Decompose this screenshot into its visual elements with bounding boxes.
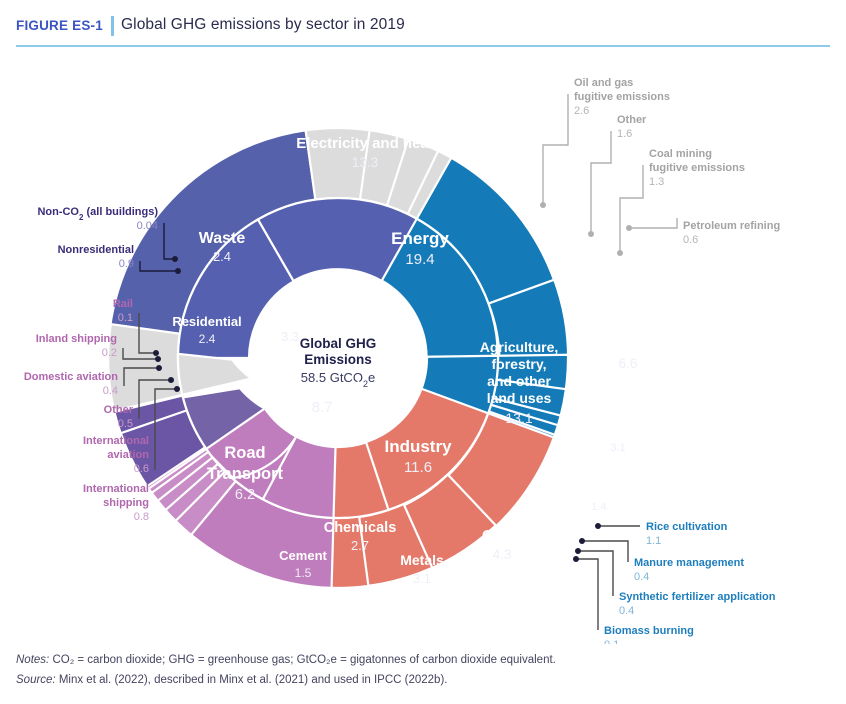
callout-petroleum-refining-line1: Petroleum refining <box>683 220 780 232</box>
callout-oil-and-gas-line2: fugitive emissions <box>574 91 670 103</box>
callout-international-aviation-line2: aviation <box>107 449 149 461</box>
callout-transport-other-line1: Other <box>104 404 134 416</box>
value-metals: 3.1 <box>413 571 431 586</box>
value-enteric: 3.1 <box>610 442 625 454</box>
callout-rail-value: 0.1 <box>118 312 133 324</box>
callout-manure-management-line1: Manure management <box>634 557 744 569</box>
leader-dot-inland-shipping <box>155 356 161 362</box>
callout-nonresidential-value: 0.9 <box>119 258 134 270</box>
leader-dot-petroleum-refining <box>626 225 632 231</box>
label-waste: Waste <box>199 230 246 247</box>
hub-line2: Emissions <box>304 352 372 367</box>
callout-international-shipping-value: 0.8 <box>134 511 149 523</box>
value-residential: 2.4 <box>199 332 216 346</box>
callouts-blue: Rice cultivation 1.1 Manure management 0… <box>573 521 776 644</box>
callout-energy-other-line1: Other <box>617 114 647 126</box>
sunburst-svg: Global GHG Emissions 58.5 GtCO2e Energy … <box>0 48 846 644</box>
label-managed-soils-2: soils and <box>574 473 624 485</box>
label-agriculture-1: Agriculture, <box>480 339 559 355</box>
leader-energy-other <box>591 131 611 232</box>
callout-non-co2-value: 0.04 <box>137 220 158 232</box>
value-buildings: 3.3 <box>281 330 298 344</box>
label-agriculture-4: land uses <box>487 390 552 406</box>
label-road-transport-2: Transport <box>207 465 284 483</box>
callout-energy-other-value: 1.6 <box>617 128 632 140</box>
callout-inland-shipping-value: 0.2 <box>102 347 117 359</box>
leader-dot-synthetic-fertilizer <box>575 548 581 554</box>
value-electricity-and-heat: 13.3 <box>352 155 378 170</box>
label-enteric-2: fermentation <box>583 428 653 440</box>
leader-dot-transport-other <box>168 377 174 383</box>
label-road-transport-1: Road <box>224 444 265 462</box>
label-electricity-and-heat: Electricity and heat <box>296 135 434 152</box>
value-agriculture: 13.1 <box>505 410 532 426</box>
label-chemicals: Chemicals <box>324 520 397 536</box>
label-land-use-3: change, <box>602 318 655 334</box>
leader-dot-non-co2 <box>172 256 178 262</box>
header-divider <box>111 16 114 36</box>
footer-source-text: Minx et al. (2022), described in Minx et… <box>56 674 448 686</box>
label-cement: Cement <box>279 548 327 563</box>
leader-biomass-burning <box>578 559 598 630</box>
callout-oil-and-gas-value: 2.6 <box>574 105 589 117</box>
label-land-use-2: land-use <box>599 300 657 316</box>
callout-nonresidential-line1: Nonresidential <box>58 244 134 256</box>
leader-oil-and-gas <box>543 94 568 203</box>
value-waste: 2.4 <box>213 249 231 264</box>
callout-international-aviation-value: 0.6 <box>134 463 149 475</box>
value-land-use: 6.6 <box>619 356 638 371</box>
leader-synthetic-fertilizer <box>580 551 613 596</box>
label-industry: Industry <box>384 437 452 456</box>
leader-dot-energy-other <box>588 231 594 237</box>
footer-notes-label: Notes: <box>16 654 49 666</box>
callout-inland-shipping-line1: Inland shipping <box>36 333 117 345</box>
value-cement: 1.5 <box>295 566 312 580</box>
leader-dot-nonresidential <box>175 268 181 274</box>
leader-dot-manure-management <box>579 538 585 544</box>
callout-biomass-burning-line1: Biomass burning <box>604 625 694 637</box>
callout-manure-management-value: 0.4 <box>634 571 649 583</box>
callout-international-shipping-line1: International <box>83 483 149 495</box>
figure-number: FIGURE ES-1 <box>16 18 103 33</box>
footer-source: Source: Minx et al. (2022), described in… <box>16 670 816 690</box>
callout-rice-cultivation-line1: Rice cultivation <box>646 521 728 533</box>
callout-coal-mining-line2: fugitive emissions <box>649 162 745 174</box>
figure-header: FIGURE ES-1 Global GHG emissions by sect… <box>0 0 846 52</box>
callout-international-aviation-line1: International <box>83 435 149 447</box>
value-managed-soils: 1.4 <box>591 501 606 513</box>
figure-footer: Notes: CO₂ = carbon dioxide; GHG = green… <box>16 650 816 690</box>
callout-coal-mining-line1: Coal mining <box>649 148 712 160</box>
callout-domestic-aviation-value: 0.4 <box>103 385 118 397</box>
hub-line1: Global GHG <box>300 336 377 351</box>
label-land-use-4: and forestry <box>588 336 669 352</box>
value-transport: 8.7 <box>312 399 333 416</box>
leader-dot-domestic-aviation <box>156 365 162 371</box>
label-residential: Residential <box>172 314 241 329</box>
label-enteric-1: Enteric <box>599 414 639 426</box>
callout-international-shipping-line2: shipping <box>103 497 149 509</box>
leader-coal-mining <box>620 165 643 251</box>
callout-oil-and-gas-line1: Oil and gas <box>574 77 633 89</box>
label-land-use-1: Land use, <box>595 282 660 298</box>
callout-synthetic-fertilizer-line1: Synthetic fertilizer application <box>619 591 776 603</box>
callout-synthetic-fertilizer-value: 0.4 <box>619 605 634 617</box>
label-managed-soils-1: Managed <box>574 459 624 471</box>
label-buildings: Buildings <box>259 312 321 327</box>
label-industry-other: Other <box>482 527 522 544</box>
value-road-transport: 6.2 <box>235 487 255 503</box>
callout-transport-other-value: 0.5 <box>118 418 133 430</box>
callout-domestic-aviation-line1: Domestic aviation <box>24 371 118 383</box>
callout-biomass-burning-value: 0.1 <box>604 639 619 644</box>
callouts-grey: Oil and gas fugitive emissions 2.6 Other… <box>540 77 780 256</box>
value-energy: 19.4 <box>405 251 434 268</box>
label-transport: Transport <box>283 377 362 396</box>
leader-dot-rice-cultivation <box>595 523 601 529</box>
leader-petroleum-refining <box>631 218 677 228</box>
label-agriculture-3: and other <box>487 373 551 389</box>
leader-dot-coal-mining <box>617 250 623 256</box>
leader-dot-oil-and-gas <box>540 202 546 208</box>
value-industry-other: 4.3 <box>493 547 512 562</box>
leader-dot-rail <box>153 350 159 356</box>
label-managed-soils-3: pasture <box>578 487 620 499</box>
page-title: Global GHG emissions by sector in 2019 <box>121 16 405 34</box>
leader-dot-international-aviation <box>174 386 180 392</box>
label-metals: Metals <box>400 552 444 568</box>
footer-notes-text: CO₂ = carbon dioxide; GHG = greenhouse g… <box>49 654 556 666</box>
callout-petroleum-refining-value: 0.6 <box>683 234 698 246</box>
value-industry: 11.6 <box>404 459 432 476</box>
header-rule <box>16 45 830 47</box>
sunburst-chart: Global GHG Emissions 58.5 GtCO2e Energy … <box>0 48 846 644</box>
callout-rail-line1: Rail <box>113 298 133 310</box>
label-energy: Energy <box>391 229 449 248</box>
footer-source-label: Source: <box>16 674 56 686</box>
label-agriculture-2: forestry, <box>492 356 547 372</box>
callout-rice-cultivation-value: 1.1 <box>646 535 661 547</box>
value-chemicals: 2.7 <box>351 538 369 553</box>
callout-coal-mining-value: 1.3 <box>649 176 664 188</box>
leader-dot-biomass-burning <box>573 556 579 562</box>
footer-notes: Notes: CO₂ = carbon dioxide; GHG = green… <box>16 650 816 670</box>
